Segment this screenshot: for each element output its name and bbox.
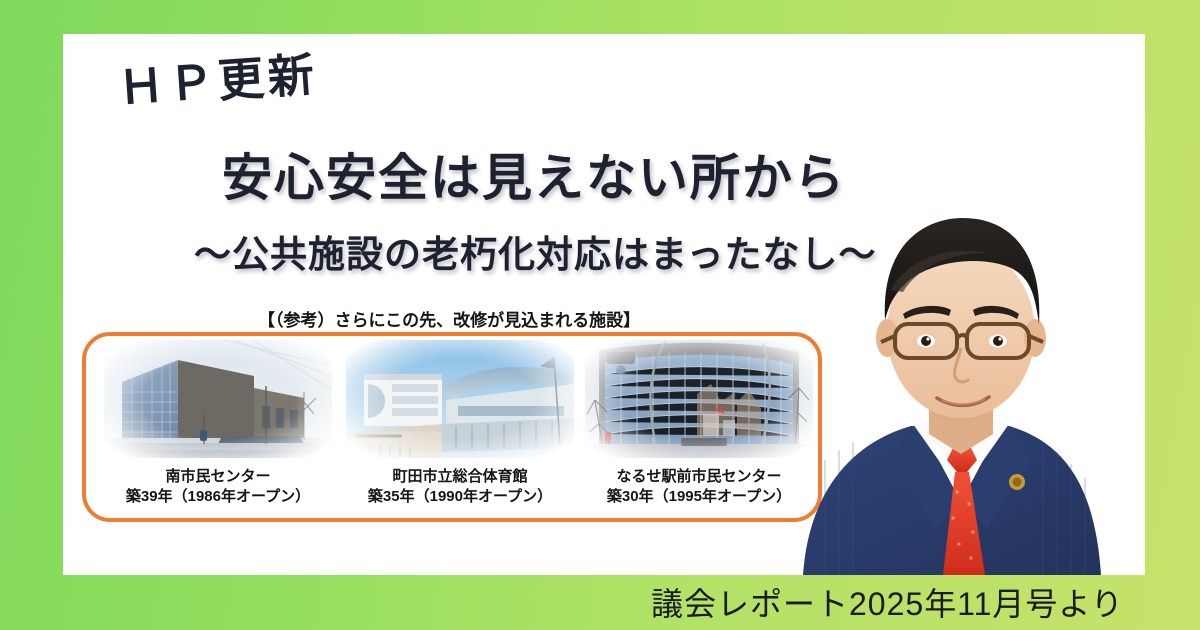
facility-name: 町田市立総合体育館 xyxy=(368,467,552,487)
facility-item: なるせ駅前市民センター 築30年（1995年オープン） xyxy=(580,340,818,507)
facility-item: 南市民センター 築39年（1986年オープン） xyxy=(99,340,337,507)
page-subtitle: 〜公共施設の老朽化対応はまったなし〜 xyxy=(194,224,877,278)
reference-caption: 【（参考）さらにこの先、改修が見込まれる施設】 xyxy=(258,306,640,331)
footer-note: 議会レポート2025年11月号より xyxy=(651,579,1124,625)
facility-name: 南市民センター xyxy=(126,467,310,487)
facility-name: なるせ駅前市民センター xyxy=(607,467,791,487)
page-title: 安心安全は見えない所から xyxy=(222,138,846,210)
facility-photo-naruse xyxy=(585,340,813,458)
facility-age: 築30年（1995年オープン） xyxy=(607,487,791,507)
facility-age: 築35年（1990年オープン） xyxy=(368,487,552,507)
facility-age: 築39年（1986年オープン） xyxy=(126,487,310,507)
facility-caption: 町田市立総合体育館 築35年（1990年オープン） xyxy=(368,467,552,507)
facility-photo-minami xyxy=(104,340,332,458)
facility-item: 町田市立総合体育館 築35年（1990年オープン） xyxy=(341,340,579,507)
facility-caption: なるせ駅前市民センター 築30年（1995年オープン） xyxy=(607,467,791,507)
hp-update-badge: ＨＰ更新 xyxy=(116,38,320,118)
facility-caption: 南市民センター 築39年（1986年オープン） xyxy=(126,467,310,507)
facility-photo-gymnasium xyxy=(346,340,574,458)
banner-root: ＨＰ更新 安心安全は見えない所から 〜公共施設の老朽化対応はまったなし〜 【（参… xyxy=(0,0,1200,630)
